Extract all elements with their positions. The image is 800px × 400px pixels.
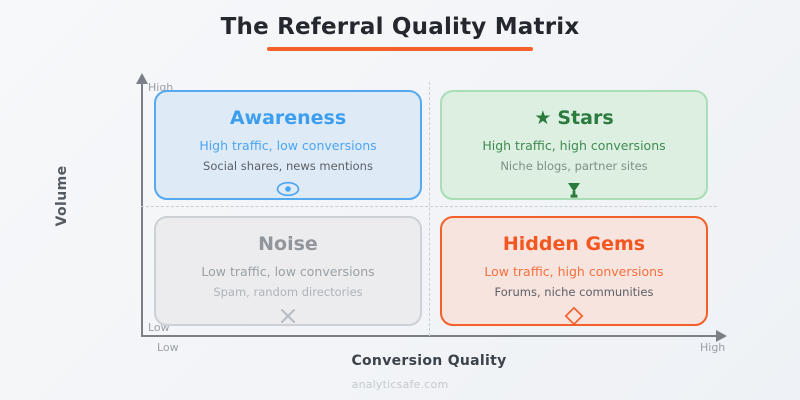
quadrant-examples: Niche blogs, partner sites — [500, 160, 647, 174]
quadrant-stars[interactable]: ★ Stars High traffic, high conversions N… — [440, 90, 708, 200]
quadrant-subtitle: Low traffic, low conversions — [201, 264, 374, 279]
quadrant-hidden-gems[interactable]: Hidden Gems Low traffic, high conversion… — [440, 216, 708, 326]
watermark: analyticsafe.com — [0, 378, 800, 391]
trophy-icon — [564, 180, 584, 200]
title-underline — [267, 47, 533, 51]
quadrant-examples: Social shares, news mentions — [203, 160, 373, 174]
x-axis-label: Conversion Quality — [141, 353, 717, 369]
x-axis-tick-low: Low — [157, 341, 179, 354]
quadrant-title-text: Noise — [258, 234, 318, 255]
matrix-canvas: The Referral Quality Matrix Volume Conve… — [0, 0, 800, 400]
x-axis-tick-high: High — [700, 341, 725, 354]
quadrant-title: Hidden Gems — [503, 234, 645, 255]
quadrant-title-text: Hidden Gems — [503, 234, 645, 255]
quadrant-awareness[interactable]: Awareness High traffic, low conversions … — [154, 90, 422, 200]
quadrant-noise[interactable]: Noise Low traffic, low conversions Spam,… — [154, 216, 422, 326]
quadrant-title-text: Stars — [557, 108, 613, 129]
page-title: The Referral Quality Matrix — [0, 14, 800, 40]
vertical-divider — [429, 82, 430, 336]
quadrant-title: Awareness — [230, 108, 346, 129]
y-axis-arrow-icon — [136, 73, 148, 84]
quadrant-examples: Spam, random directories — [213, 286, 362, 300]
y-axis-line — [141, 82, 143, 336]
quadrant-subtitle: Low traffic, high conversions — [484, 264, 663, 279]
quadrant-title: Noise — [258, 234, 318, 255]
quadrant-subtitle: High traffic, low conversions — [199, 138, 376, 153]
star-icon: ★ — [534, 108, 551, 129]
eye-icon — [276, 180, 300, 198]
y-axis-label: Volume — [54, 126, 70, 266]
quadrant-title: ★ Stars — [534, 108, 613, 129]
diamond-gem-icon — [564, 306, 584, 326]
quadrant-title-text: Awareness — [230, 108, 346, 129]
quadrant-subtitle: High traffic, high conversions — [482, 138, 665, 153]
quadrant-examples: Forums, niche communities — [495, 286, 654, 300]
close-x-icon — [278, 306, 298, 326]
